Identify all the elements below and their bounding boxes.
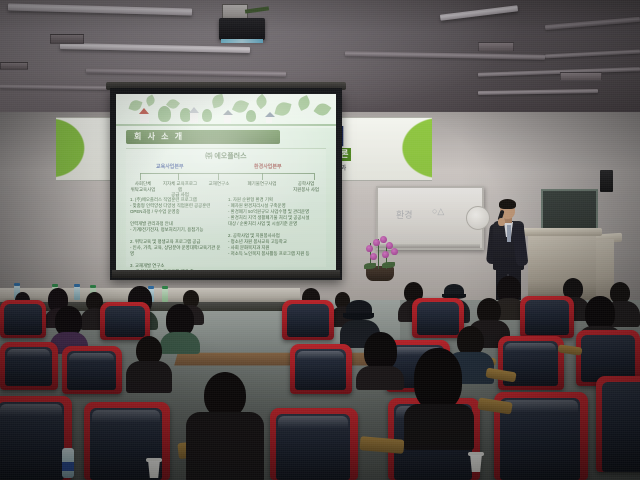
audience-member xyxy=(126,336,172,390)
seat-cushion xyxy=(105,306,145,337)
presenter-tie xyxy=(507,225,511,242)
screen-bottom-bar xyxy=(112,270,340,278)
slide-body: ㈜ 에오플러스 교육사업본부 환경사업본부 사회단체 위탁교육사업 지자체 교육… xyxy=(126,148,326,267)
audience-member xyxy=(404,348,474,448)
water-bottle xyxy=(162,288,168,302)
org-connector xyxy=(140,173,314,174)
seat-highlight xyxy=(0,404,62,422)
house-roof-icon xyxy=(265,112,275,117)
tree-icon xyxy=(246,110,256,122)
person-hair xyxy=(364,332,397,370)
bottle-cap xyxy=(52,284,58,287)
ceiling-vent xyxy=(478,42,514,52)
tree-icon xyxy=(202,109,212,122)
orchid-plant xyxy=(358,233,402,281)
house-icon xyxy=(140,114,149,123)
bottle-cap xyxy=(74,284,80,287)
seat-highlight xyxy=(505,343,556,355)
tree-icon xyxy=(158,106,171,122)
leaf-icon xyxy=(296,95,312,111)
person-shoulders xyxy=(404,404,474,450)
orchid-flower xyxy=(391,248,398,255)
slide-subtitle-text: ㈜ 에오플러스 xyxy=(126,151,326,161)
org-connector xyxy=(218,173,219,180)
leaf-icon xyxy=(144,94,156,106)
house-icon xyxy=(224,115,231,123)
audience-member xyxy=(186,372,264,480)
leaf-icon xyxy=(313,100,331,118)
org-node: 지자체 교육프로그램 공급 사업 xyxy=(162,181,198,198)
seat-cushion xyxy=(602,382,640,472)
org-connector xyxy=(178,173,179,180)
auditorium-photo: 200 우수취업 일시 2009. 수회 강전학토론 학교 환경공학과 xyxy=(0,0,640,480)
seat-cushion xyxy=(4,304,42,335)
org-node: 사회단체 위탁교육사업 xyxy=(126,181,160,192)
org-node: 폐기물연구사업 xyxy=(244,181,280,187)
org-node: 공학사업 지원봉사 사업 xyxy=(286,181,326,192)
seat-highlight xyxy=(69,353,114,365)
cap-brim-icon xyxy=(343,313,374,320)
orchid-flower xyxy=(370,253,377,260)
orchid-flower xyxy=(366,245,373,252)
seat-highlight xyxy=(7,349,50,361)
seat-highlight xyxy=(92,410,160,428)
ceiling-vent xyxy=(560,72,602,81)
house-icon xyxy=(190,112,198,123)
orchid-flower xyxy=(382,251,389,258)
house-roof-icon xyxy=(223,110,233,115)
bottle-cap xyxy=(14,283,20,286)
presentation-slide: 회 사 소 개 ㈜ 에오플러스 교육사업본부 환경사업본부 사회단체 위탁교육사… xyxy=(116,94,336,272)
audience-member xyxy=(50,306,88,350)
house-roof-icon xyxy=(189,107,199,113)
org-connector xyxy=(314,173,315,180)
orchid-leaf xyxy=(382,262,395,268)
projector-body xyxy=(219,18,265,40)
person-hair xyxy=(414,348,462,410)
wall-speaker-icon xyxy=(600,170,613,192)
org-node: 교재연구소 xyxy=(202,181,236,187)
whiteboard-writing: 환경 xyxy=(396,208,413,221)
bottle-label xyxy=(62,462,74,471)
slide-bullets-left: 1. (주)에오플러스 직업훈련 프로그램 - 맞춤형 인력양성 다양성 직업훈… xyxy=(130,197,222,272)
org-branch-label-right: 환경사업본부 xyxy=(254,163,282,170)
slide-bullets-right: 1. 자원 순환형 환경 기획 - 폐자원 환경처리시설 구축운영 - 환경폐기… xyxy=(228,197,324,257)
projection-screen: 회 사 소 개 ㈜ 에오플러스 교육사업본부 환경사업본부 사회단체 위탁교육사… xyxy=(110,88,342,280)
person-shoulders xyxy=(186,412,264,480)
house-roof-icon xyxy=(139,108,149,114)
person-hair xyxy=(585,296,615,330)
orchid-flower xyxy=(373,239,380,246)
person-shoulders xyxy=(126,361,172,393)
person-shoulders xyxy=(356,366,404,390)
presenter-hand xyxy=(498,218,505,226)
org-connector xyxy=(140,173,141,180)
seat-cushion xyxy=(287,304,329,337)
presenter-hair xyxy=(499,199,516,209)
org-connector xyxy=(262,173,263,180)
lectern-top xyxy=(522,228,602,236)
ceiling-vent xyxy=(0,62,28,70)
slide-title-bar: 회 사 소 개 xyxy=(126,130,280,144)
seat-highlight xyxy=(502,400,578,418)
orchid-leaf xyxy=(364,263,376,269)
whiteboard-writing: ○△ xyxy=(432,206,444,217)
seat-highlight xyxy=(278,416,348,434)
house-icon xyxy=(266,116,272,123)
ceiling-vent xyxy=(50,34,84,44)
seat-cushion xyxy=(581,335,635,382)
seat-highlight xyxy=(297,351,344,363)
projector-lens-strip xyxy=(221,39,263,43)
bottle-cap xyxy=(162,286,168,289)
slide-header-groundline xyxy=(116,124,336,126)
audience-member xyxy=(356,332,404,388)
bottle-cap xyxy=(90,285,96,288)
leaf-icon xyxy=(211,94,226,108)
leaf-icon xyxy=(254,94,269,109)
leaf-icon xyxy=(274,100,291,117)
orchid-flower xyxy=(380,236,387,243)
seat-cushion xyxy=(525,300,569,335)
slide-decorative-header xyxy=(116,94,336,128)
slide-title-text: 회 사 소 개 xyxy=(134,131,184,142)
org-branch-label-left: 교육사업본부 xyxy=(156,163,184,170)
